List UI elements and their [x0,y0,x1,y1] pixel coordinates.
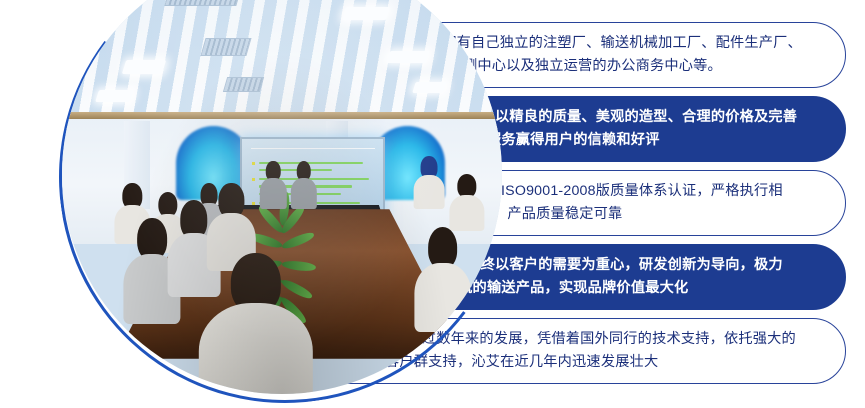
conference-room-photo [62,0,502,394]
photo-scene [62,0,502,394]
attendee [449,174,484,231]
ceiling-vent [223,77,265,92]
attendee [414,227,471,333]
foreground-attendee [198,253,312,394]
ceiling-light [386,51,430,63]
attendee [260,161,286,209]
attendee [414,156,445,209]
promo-banner: 1、公司拥有自己独立的注塑厂、输送机械加工厂、配件生产厂、 工程塑料检测中心以及… [0,0,865,408]
ceiling-light [121,60,165,74]
ceiling-light [412,82,446,93]
ceiling-light [341,7,389,20]
slide-rule [251,148,375,149]
ceiling-vent [200,38,251,56]
attendee [291,161,317,209]
ceiling-light [95,90,134,102]
wall-trim [62,112,502,119]
ceiling-vent [164,0,244,7]
